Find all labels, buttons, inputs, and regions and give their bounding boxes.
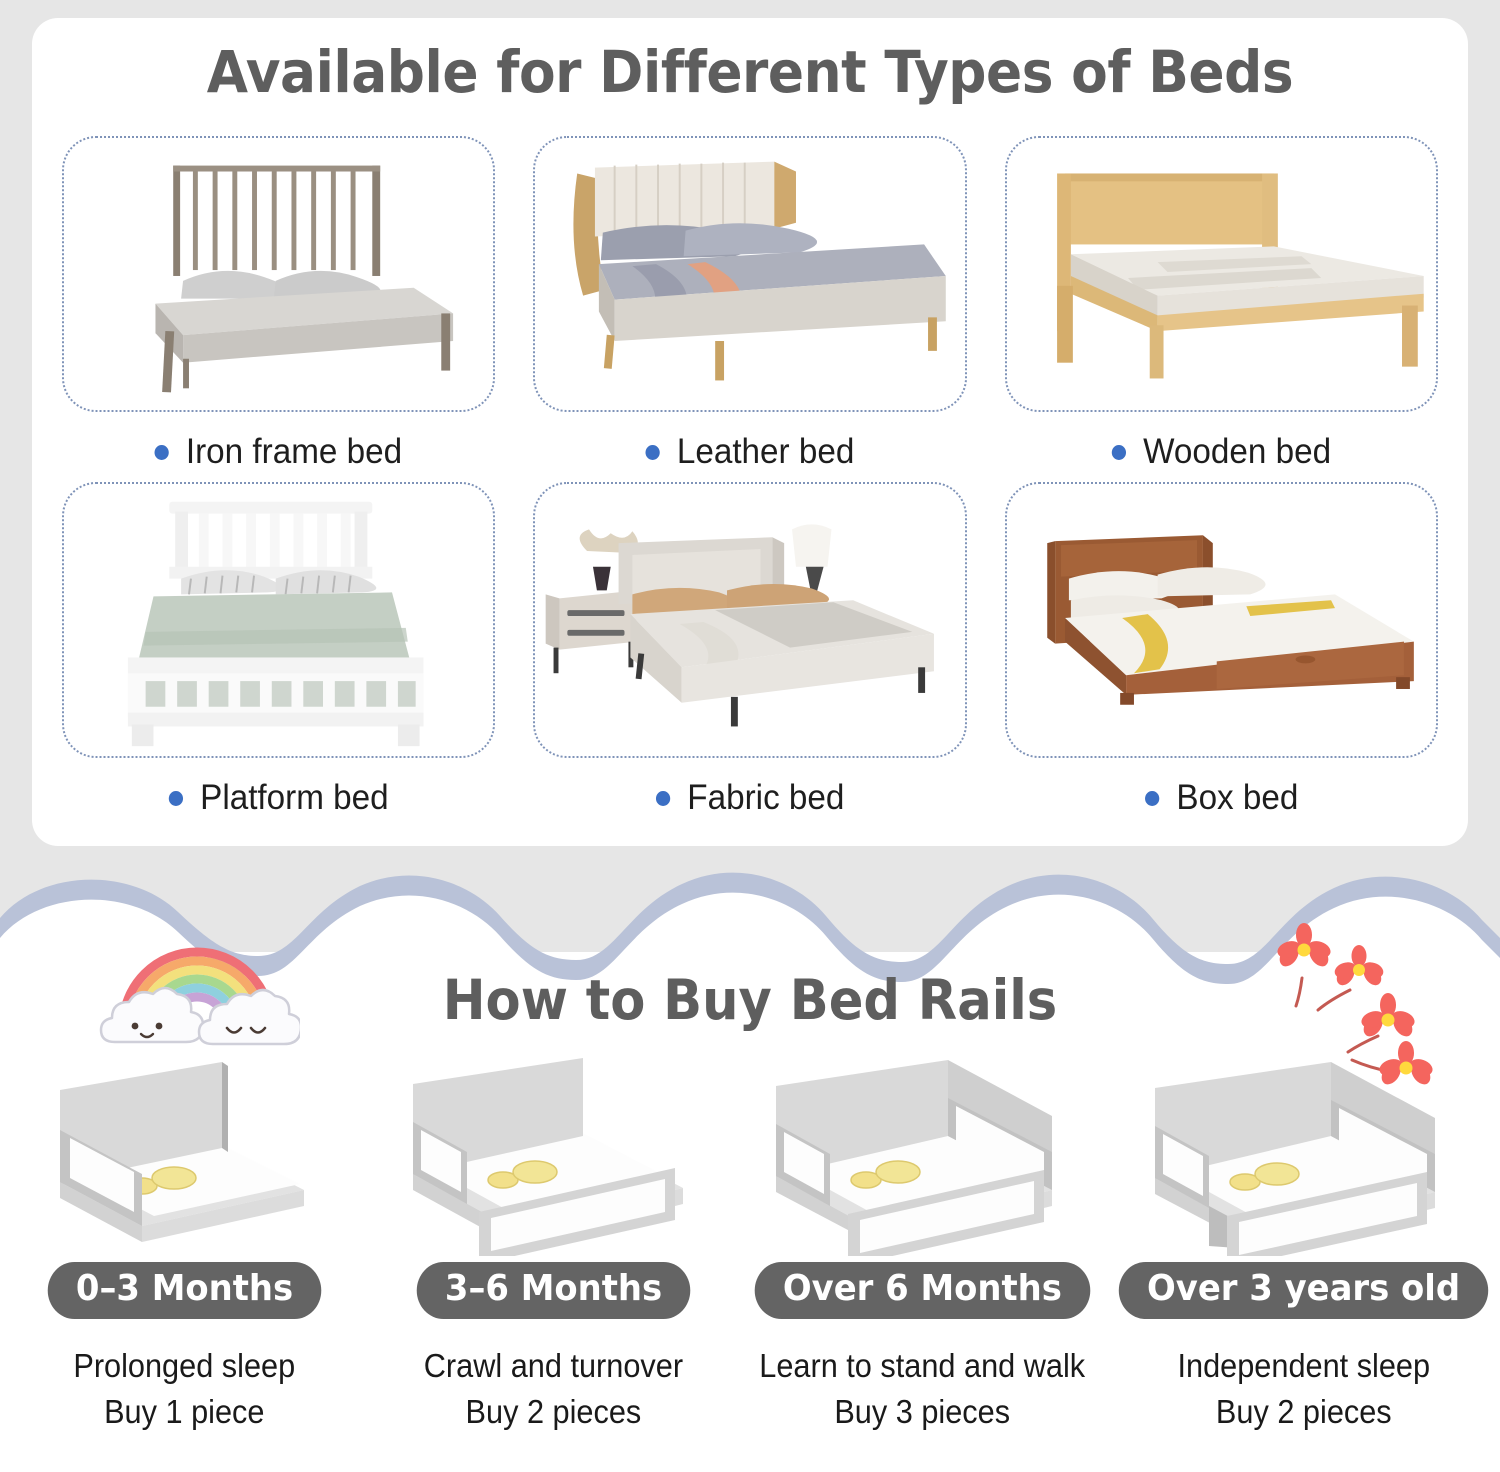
bed-photo-frame: [62, 136, 495, 412]
bed-card-platform[interactable]: Platform bed: [62, 482, 495, 818]
bed-card-label: Fabric bed: [656, 778, 844, 818]
leather-bed-photo: [535, 138, 964, 410]
stage-quantity: Buy 2 pieces: [424, 1389, 683, 1435]
stage-caption: Prolonged sleep Buy 1 piece: [74, 1343, 296, 1434]
stage-badge: Over 3 years old: [1119, 1262, 1489, 1319]
stage-item[interactable]: 3–6 Months Crawl and turnover Buy 2 piec…: [369, 1056, 738, 1434]
bullet-dot-icon: [656, 791, 670, 806]
platform-bed-photo: [64, 484, 493, 756]
bed-photo-frame: [62, 482, 495, 758]
section-title: How to Buy Bed Rails: [53, 968, 1448, 1032]
bed-rail-2-pieces-illustration: [383, 1056, 723, 1256]
bed-card-iron-frame[interactable]: Iron frame bed: [62, 136, 495, 472]
page-title: Available for Different Types of Beds: [89, 38, 1410, 106]
stage-badge: 3–6 Months: [417, 1262, 691, 1319]
bed-label-text: Wooden bed: [1143, 432, 1331, 472]
stage-badge: 0–3 Months: [48, 1262, 322, 1319]
bed-card-label: Wooden bed: [1112, 432, 1331, 472]
bed-rail-4-pieces-illustration: [1133, 1056, 1473, 1256]
bed-photo-frame: [1005, 482, 1438, 758]
bed-rail-stages: 0–3 Months Prolonged sleep Buy 1 piece: [0, 1056, 1500, 1434]
stage-activity: Independent sleep: [1177, 1343, 1430, 1389]
stage-badge: Over 6 Months: [755, 1262, 1090, 1319]
bed-rail-1-piece-illustration: [14, 1056, 354, 1256]
bed-label-text: Fabric bed: [687, 778, 844, 818]
bed-card-label: Platform bed: [169, 778, 389, 818]
bed-photo-frame: [533, 482, 966, 758]
infographic-page: Available for Different Types of Beds: [0, 0, 1500, 1472]
bed-card-fabric[interactable]: Fabric bed: [533, 482, 966, 818]
bed-card-label: Iron frame bed: [155, 432, 403, 472]
bed-label-text: Box bed: [1176, 778, 1298, 818]
bullet-dot-icon: [1112, 445, 1126, 460]
bed-card-wooden[interactable]: Wooden bed: [1005, 136, 1438, 472]
bed-label-text: Leather bed: [677, 432, 854, 472]
stage-activity: Crawl and turnover: [424, 1343, 683, 1389]
stage-activity: Learn to stand and walk: [759, 1343, 1085, 1389]
bed-card-label: Leather bed: [646, 432, 855, 472]
stage-activity: Prolonged sleep: [74, 1343, 296, 1389]
stage-caption: Learn to stand and walk Buy 3 pieces: [759, 1343, 1085, 1434]
stage-caption: Crawl and turnover Buy 2 pieces: [424, 1343, 683, 1434]
stage-item[interactable]: Over 3 years old Independent sleep Buy 2…: [1107, 1056, 1500, 1434]
bullet-dot-icon: [155, 445, 169, 460]
bullet-dot-icon: [1145, 791, 1159, 806]
bullet-dot-icon: [646, 445, 660, 460]
stage-quantity: Buy 1 piece: [74, 1389, 296, 1435]
bullet-dot-icon: [169, 791, 183, 806]
bed-card-leather[interactable]: Leather bed: [533, 136, 966, 472]
stage-item[interactable]: Over 6 Months Learn to stand and walk Bu…: [738, 1056, 1107, 1434]
iron-frame-bed-photo: [64, 138, 493, 410]
how-to-buy-section: How to Buy Bed Rails 0–3 Months: [0, 860, 1500, 1472]
box-bed-photo: [1007, 484, 1436, 756]
bed-label-text: Platform bed: [200, 778, 389, 818]
bed-label-text: Iron frame bed: [186, 432, 402, 472]
fabric-bed-photo: [535, 484, 964, 756]
bed-card-label: Box bed: [1145, 778, 1298, 818]
stage-caption: Independent sleep Buy 2 pieces: [1177, 1343, 1430, 1434]
bed-types-panel: Available for Different Types of Beds: [32, 18, 1468, 846]
stage-quantity: Buy 2 pieces: [1177, 1389, 1430, 1435]
stage-item[interactable]: 0–3 Months Prolonged sleep Buy 1 piece: [0, 1056, 369, 1434]
bed-types-grid: Iron frame bed: [62, 136, 1438, 818]
bed-photo-frame: [533, 136, 966, 412]
wooden-bed-photo: [1007, 138, 1436, 410]
stage-quantity: Buy 3 pieces: [759, 1389, 1085, 1435]
bed-photo-frame: [1005, 136, 1438, 412]
bed-rail-3-pieces-illustration: [752, 1056, 1092, 1256]
bed-card-box[interactable]: Box bed: [1005, 482, 1438, 818]
